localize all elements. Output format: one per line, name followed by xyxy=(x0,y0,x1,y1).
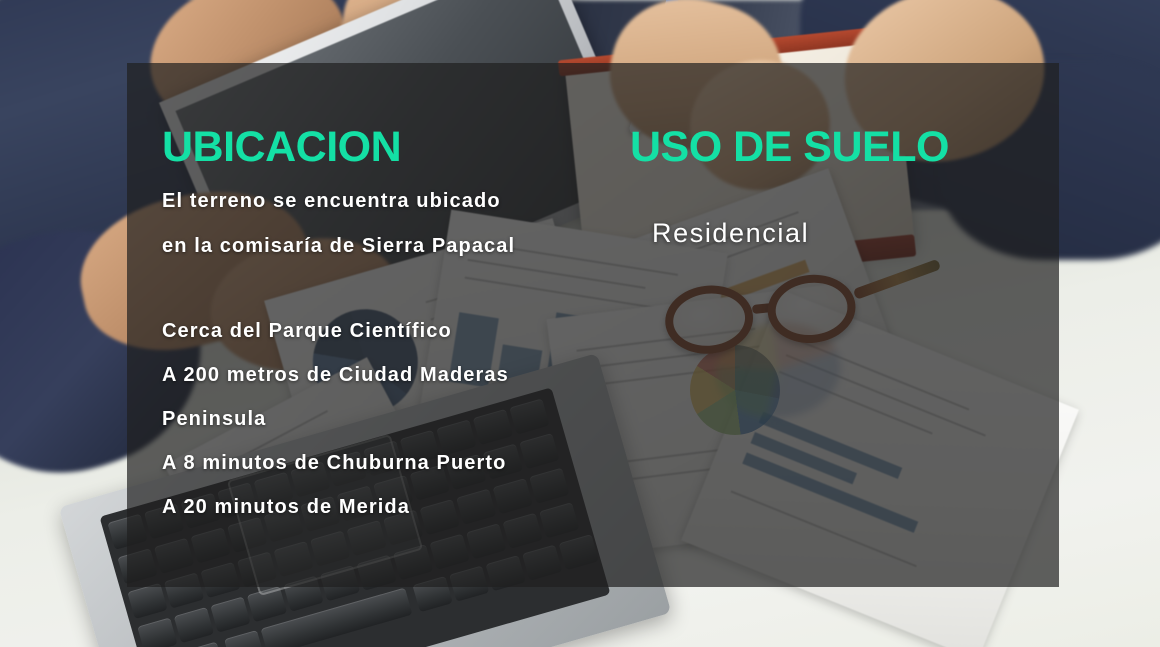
slide-content: UBICACION El terreno se encuentra ubicad… xyxy=(127,63,1059,587)
heading-uso-de-suelo: USO DE SUELO xyxy=(630,126,949,169)
list-item: A 20 minutos de Merida xyxy=(162,497,509,517)
ubicacion-feature-list: Cerca del Parque Científico A 200 metros… xyxy=(162,321,509,517)
list-item: A 200 metros de Ciudad Maderas xyxy=(162,365,509,385)
heading-ubicacion: UBICACION xyxy=(162,126,401,169)
intro-line: El terreno se encuentra ubicado xyxy=(162,191,515,211)
ubicacion-intro: El terreno se encuentra ubicado en la co… xyxy=(162,191,515,256)
list-item: Peninsula xyxy=(162,409,509,429)
presentation-slide: UBICACION El terreno se encuentra ubicad… xyxy=(0,0,1160,647)
list-item: Cerca del Parque Científico xyxy=(162,321,509,341)
uso-de-suelo-value: Residencial xyxy=(652,220,809,247)
list-item: A 8 minutos de Chuburna Puerto xyxy=(162,453,509,473)
intro-line: en la comisaría de Sierra Papacal xyxy=(162,236,515,256)
